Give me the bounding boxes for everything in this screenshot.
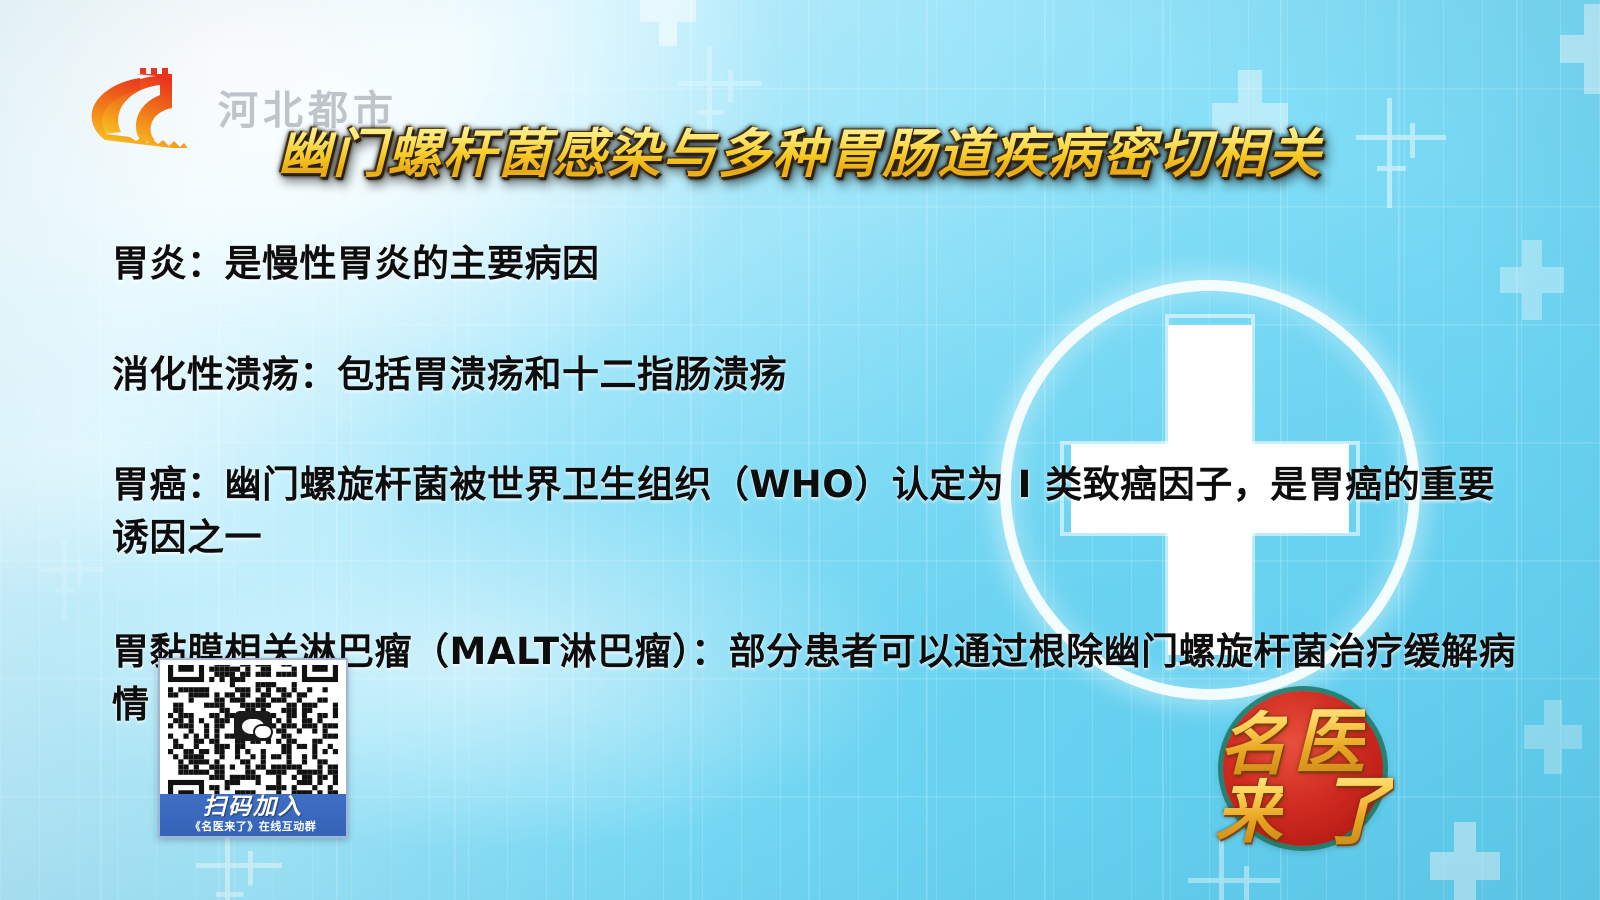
content-line: 胃炎：是慢性胃炎的主要病因 bbox=[112, 238, 1522, 291]
wechat-group-qr[interactable]: 扫码加入 《名医来了》在线互动群 bbox=[158, 658, 348, 838]
wechat-icon bbox=[234, 711, 272, 741]
content-line: 胃癌：幽门螺旋杆菌被世界卫生组织（WHO）认定为 I 类致癌因子，是胃癌的重要诱… bbox=[112, 459, 1522, 564]
show-logo-char: 了 bbox=[1317, 749, 1393, 859]
qr-footer: 扫码加入 《名医来了》在线互动群 bbox=[160, 794, 346, 836]
broadcast-screen: 河北都市 幽门螺杆菌感染与多种胃肠道疾病密切相关 胃炎：是慢性胃炎的主要病因 消… bbox=[0, 0, 1600, 900]
show-logo: 名 医 来 了 bbox=[1205, 685, 1410, 850]
content-line: 消化性溃疡：包括胃溃疡和十二指肠溃疡 bbox=[112, 349, 1522, 402]
qr-footer-title: 扫码加入 bbox=[160, 794, 346, 820]
qr-footer-subtitle: 《名医来了》在线互动群 bbox=[160, 820, 346, 833]
show-logo-char: 来 bbox=[1215, 757, 1283, 856]
page-title: 幽门螺杆菌感染与多种胃肠道疾病密切相关 bbox=[0, 112, 1600, 188]
show-logo-text: 名 医 来 了 bbox=[1205, 685, 1410, 850]
